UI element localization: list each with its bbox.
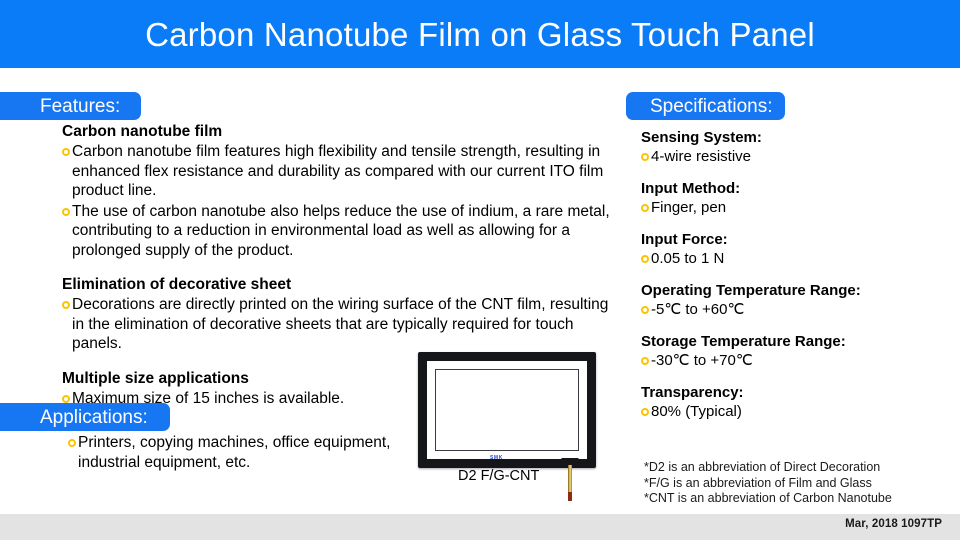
bullet-circle-icon bbox=[641, 255, 649, 263]
panel-flex-cable-tip bbox=[568, 492, 572, 501]
applications-content: Printers, copying machines, office equip… bbox=[68, 433, 428, 473]
feature-group: Carbon nanotube film Carbon nanotube fil… bbox=[62, 122, 610, 260]
bullet-circle-icon bbox=[641, 357, 649, 365]
spec-label: Operating Temperature Range: bbox=[641, 281, 953, 300]
spec-item: Input Method: Finger, pen bbox=[641, 179, 953, 217]
feature-bullet-item: Carbon nanotube film features high flexi… bbox=[62, 142, 610, 201]
spec-item: Operating Temperature Range: -5℃ to +60℃ bbox=[641, 281, 953, 319]
bullet-circle-icon bbox=[641, 153, 649, 161]
feature-bullet-text: Carbon nanotube film features high flexi… bbox=[72, 142, 610, 201]
feature-bullet-item: Decorations are directly printed on the … bbox=[62, 295, 610, 354]
section-badge-specifications-label: Specifications: bbox=[650, 97, 773, 116]
bullet-circle-icon bbox=[62, 395, 70, 403]
slide-root: Carbon Nanotube Film on Glass Touch Pane… bbox=[0, 0, 960, 540]
feature-group: Elimination of decorative sheet Decorati… bbox=[62, 275, 610, 354]
application-bullet-text: Printers, copying machines, office equip… bbox=[78, 433, 428, 472]
footnote-line: *CNT is an abbreviation of Carbon Nanotu… bbox=[644, 491, 954, 507]
spec-label: Storage Temperature Range: bbox=[641, 332, 953, 351]
spec-item: Input Force: 0.05 to 1 N bbox=[641, 230, 953, 268]
footnote-line: *F/G is an abbreviation of Film and Glas… bbox=[644, 476, 954, 492]
feature-bullet-text: Decorations are directly printed on the … bbox=[72, 295, 610, 354]
application-bullet-item: Printers, copying machines, office equip… bbox=[68, 433, 428, 472]
section-badge-specifications: Specifications: bbox=[626, 92, 785, 120]
spec-value-row: -30℃ to +70℃ bbox=[641, 351, 953, 370]
feature-bullet-text: The use of carbon nanotube also helps re… bbox=[72, 202, 610, 261]
spec-value-row: -5℃ to +60℃ bbox=[641, 300, 953, 319]
bullet-circle-icon bbox=[641, 306, 649, 314]
section-badge-applications-label: Applications: bbox=[40, 408, 148, 427]
spec-item: Sensing System: 4-wire resistive bbox=[641, 128, 953, 166]
feature-heading: Elimination of decorative sheet bbox=[62, 275, 610, 294]
feature-heading: Carbon nanotube film bbox=[62, 122, 610, 141]
footer-bar bbox=[0, 514, 960, 540]
page-title: Carbon Nanotube Film on Glass Touch Pane… bbox=[145, 18, 815, 51]
spec-value: 4-wire resistive bbox=[651, 147, 751, 166]
footnotes-block: *D2 is an abbreviation of Direct Decorat… bbox=[644, 460, 954, 507]
bullet-circle-icon bbox=[62, 148, 70, 156]
feature-bullet-item: The use of carbon nanotube also helps re… bbox=[62, 202, 610, 261]
spec-item: Storage Temperature Range: -30℃ to +70℃ bbox=[641, 332, 953, 370]
panel-brand-logo: SMK bbox=[490, 456, 503, 461]
section-badge-features: Features: bbox=[0, 92, 141, 120]
spec-label: Input Force: bbox=[641, 230, 953, 249]
section-badge-features-label: Features: bbox=[40, 97, 120, 116]
spec-label: Input Method: bbox=[641, 179, 953, 198]
touch-panel-bezel bbox=[418, 352, 596, 468]
spec-value: Finger, pen bbox=[651, 198, 726, 217]
spec-label: Transparency: bbox=[641, 383, 953, 402]
spec-value: 80% (Typical) bbox=[651, 402, 742, 421]
spec-value-row: 4-wire resistive bbox=[641, 147, 953, 166]
bullet-circle-icon bbox=[641, 204, 649, 212]
spec-value-row: 80% (Typical) bbox=[641, 402, 953, 421]
bullet-circle-icon bbox=[641, 408, 649, 416]
touch-panel-image: SMK bbox=[418, 352, 600, 474]
spec-label: Sensing System: bbox=[641, 128, 953, 147]
spec-value-row: Finger, pen bbox=[641, 198, 953, 217]
bullet-circle-icon bbox=[62, 208, 70, 216]
footer-date-code: Mar, 2018 1097TP bbox=[845, 519, 942, 531]
footnote-line: *D2 is an abbreviation of Direct Decorat… bbox=[644, 460, 954, 476]
specifications-content: Sensing System: 4-wire resistive Input M… bbox=[641, 128, 953, 434]
spec-value: -5℃ to +60℃ bbox=[651, 300, 744, 319]
bullet-circle-icon bbox=[62, 301, 70, 309]
spec-value: 0.05 to 1 N bbox=[651, 249, 724, 268]
spec-value: -30℃ to +70℃ bbox=[651, 351, 753, 370]
spec-value-row: 0.05 to 1 N bbox=[641, 249, 953, 268]
section-badge-applications: Applications: bbox=[0, 403, 170, 431]
spec-item: Transparency: 80% (Typical) bbox=[641, 383, 953, 421]
product-image-caption: D2 F/G-CNT bbox=[458, 469, 539, 484]
title-bar: Carbon Nanotube Film on Glass Touch Pane… bbox=[0, 0, 960, 68]
touch-panel-inner-edge bbox=[435, 369, 579, 451]
bullet-circle-icon bbox=[68, 439, 76, 447]
